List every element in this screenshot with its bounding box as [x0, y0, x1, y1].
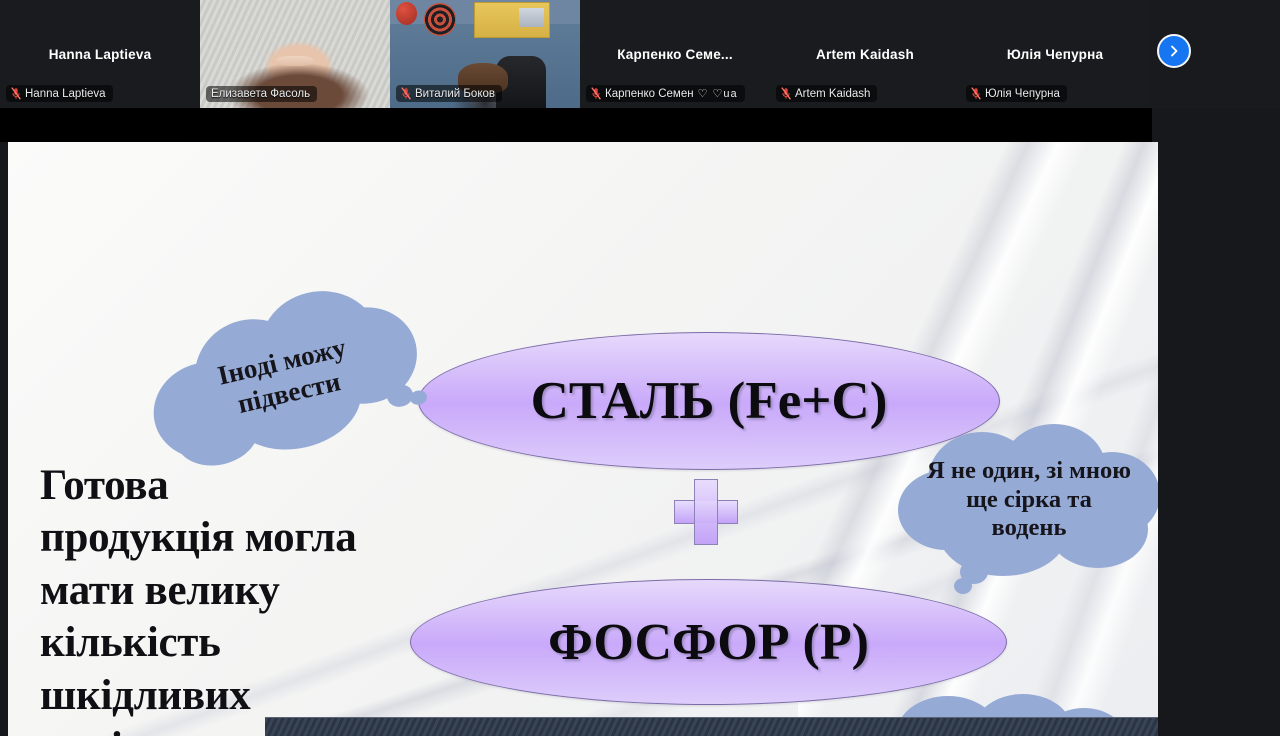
thought-cloud-sometimes-fail: Іноді можу підвести	[134, 271, 437, 484]
participant-display-name: Hanna Laptieva	[49, 47, 152, 62]
participant-tile-yulia-chepurna[interactable]: Юлія Чепурна Юлія Чепурна	[960, 0, 1150, 108]
cloud-tail	[954, 578, 972, 594]
participant-tile-hanna-laptieva[interactable]: Hanna Laptieva Hanna Laptieva	[0, 0, 200, 108]
participant-display-name: Юлія Чепурна	[1007, 47, 1103, 62]
name-badge-label: Елизавета Фасоль	[211, 88, 310, 100]
participant-tile-artem-kaidash[interactable]: Artem Kaidash Artem Kaidash	[770, 0, 960, 108]
ellipse-phosphorus: ФОСФОР (Р)	[410, 579, 1007, 705]
right-gutter	[1152, 108, 1280, 736]
name-badge-label: Виталий Боков	[415, 88, 495, 100]
shared-slide[interactable]: Готова продукція могла мати велику кільк…	[8, 142, 1158, 736]
name-badge: Юлія Чепурна	[966, 85, 1067, 102]
name-badge-label: Hanna Laptieva	[25, 88, 106, 100]
dartboard	[424, 3, 456, 35]
participant-tile-karpenko-semen[interactable]: Карпенко Семе... Карпенко Семен ♡ ♡ua	[580, 0, 770, 108]
participant-filmstrip: Hanna Laptieva Hanna Laptieva Елизавета …	[0, 0, 1280, 108]
plus-center	[695, 501, 717, 523]
thought-cloud-not-alone: Я не один, зі мною ще сірка та водень	[898, 424, 1158, 576]
mic-off-icon	[781, 87, 791, 100]
name-badge-label: Юлія Чепурна	[985, 88, 1060, 100]
name-badge: Hanna Laptieva	[6, 85, 113, 102]
wall-decor-ball	[396, 2, 417, 25]
participant-tile-vitaliy-bokov[interactable]: Виталий Боков	[390, 0, 580, 108]
name-badge-label: Карпенко Семен	[605, 88, 694, 100]
mic-off-icon	[401, 87, 411, 100]
name-badge-label: Artem Kaidash	[795, 88, 870, 100]
mic-off-icon	[11, 87, 21, 100]
participant-display-name: Artem Kaidash	[816, 47, 914, 62]
mic-off-icon	[591, 87, 601, 100]
name-badge: Елизавета Фасоль	[206, 86, 317, 102]
mic-off-icon	[971, 87, 981, 100]
meeting-screen: Hanna Laptieva Hanna Laptieva Елизавета …	[0, 0, 1280, 736]
thought-cloud-text: Я не один, зі мною ще сірка та водень	[927, 457, 1132, 544]
participant-display-name: Карпенко Семе...	[617, 47, 733, 62]
name-badge: Виталий Боков	[396, 85, 502, 102]
shelf	[474, 2, 550, 38]
next-participants-button[interactable]	[1157, 34, 1191, 68]
name-badge: Карпенко Семен ♡ ♡ua	[586, 85, 745, 102]
slide-left-paragraph: Готова продукція могла мати велику кільк…	[40, 460, 370, 736]
ellipse-steel-label: СТАЛЬ (Fe+C)	[531, 371, 888, 431]
plus-sign	[674, 479, 738, 545]
participant-tile-elizaveta-fasol[interactable]: Елизавета Фасоль	[200, 0, 390, 108]
letterbox-band	[0, 108, 1152, 142]
name-badge: Artem Kaidash	[776, 85, 877, 102]
name-badge-emoji: ♡ ♡ua	[698, 87, 738, 100]
chevron-right-icon	[1167, 44, 1181, 58]
ellipse-phosphorus-label: ФОСФОР (Р)	[548, 613, 869, 672]
